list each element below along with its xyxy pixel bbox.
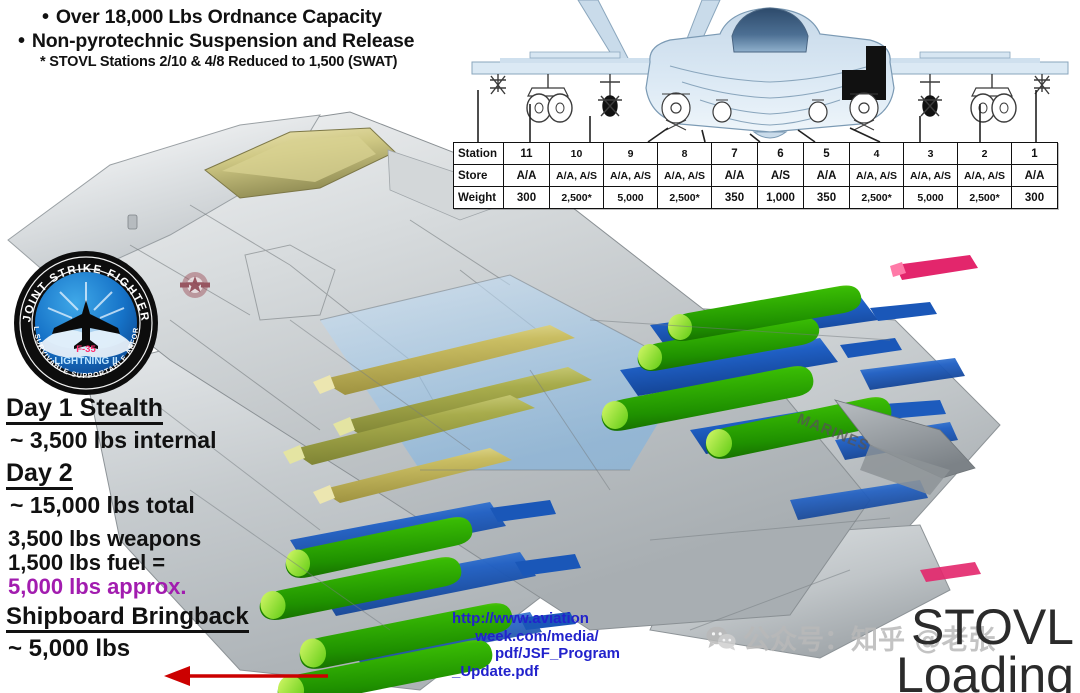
cell-store-5: A/A — [804, 165, 850, 187]
table-row-weight: Weight 300 2,500* 5,000 2,500* 350 1,000… — [454, 187, 1058, 209]
cell-weight-2: 2,500* — [958, 187, 1012, 209]
row-label-station: Station — [454, 143, 504, 165]
cell-station-5: 5 — [804, 143, 850, 165]
bullet-item-2: • Non-pyrotechnic Suspension and Release — [18, 30, 458, 53]
bringback-value: ~ 5,000 lbs — [8, 637, 336, 661]
cell-store-1: A/A — [1012, 165, 1058, 187]
table-row-store: Store A/A A/A, A/S A/A, A/S A/A, A/S A/A… — [454, 165, 1058, 187]
cell-station-8: 8 — [658, 143, 712, 165]
calc-line-weapons: 3,500 lbs weapons — [8, 528, 336, 550]
cell-station-1: 1 — [1012, 143, 1058, 165]
cell-store-8: A/A, A/S — [658, 165, 712, 187]
bullet-marker-icon: • — [18, 31, 25, 51]
cell-store-10: A/A, A/S — [550, 165, 604, 187]
stovl-label-line1: STOVL — [896, 603, 1074, 651]
wechat-icon — [706, 625, 736, 651]
cell-store-2: A/A, A/S — [958, 165, 1012, 187]
source-url-note[interactable]: http://www.aviation week.com/media/ pdf/… — [452, 610, 622, 681]
url-line-2: week.com/media/ — [452, 628, 622, 646]
cell-weight-3: 5,000 — [904, 187, 958, 209]
bringback-title: Shipboard Bringback — [6, 605, 249, 633]
bullet-footnote: * STOVL Stations 2/10 & 4/8 Reduced to 1… — [18, 54, 458, 70]
cell-station-2: 2 — [958, 143, 1012, 165]
cell-weight-5: 350 — [804, 187, 850, 209]
bullet-item-1: • Over 18,000 Lbs Ordnance Capacity — [18, 6, 458, 29]
footnote-text: * STOVL Stations 2/10 & 4/8 Reduced to 1… — [40, 54, 397, 70]
bullet-text-2: Non-pyrotechnic Suspension and Release — [32, 30, 415, 53]
bringback-title-row: Shipboard Bringback — [6, 605, 336, 633]
bullet-marker-icon: • — [42, 7, 49, 27]
url-line-1: http://www.aviation — [452, 610, 622, 628]
cell-weight-9: 5,000 — [604, 187, 658, 209]
cell-store-3: A/A, A/S — [904, 165, 958, 187]
day2-title: Day 2 — [6, 461, 73, 490]
header-bullet-list: • Over 18,000 Lbs Ordnance Capacity • No… — [18, 6, 458, 70]
day1-value: ~ 3,500 lbs internal — [10, 429, 336, 452]
cell-station-11: 11 — [504, 143, 550, 165]
day1-title-row: Day 1 Stealth — [6, 396, 336, 425]
day2-value: ~ 15,000 lbs total — [10, 494, 336, 517]
calc-line-total: 5,000 lbs approx. — [8, 576, 336, 598]
slide-canvas: • Over 18,000 Lbs Ordnance Capacity • No… — [0, 0, 1080, 693]
row-label-weight: Weight — [454, 187, 504, 209]
stovl-label-line2: Loading — [896, 651, 1074, 693]
calc-line-fuel: 1,500 lbs fuel = — [8, 552, 336, 574]
callout-leader-lines — [450, 84, 1080, 146]
cell-weight-6: 1,000 — [758, 187, 804, 209]
cell-station-9: 9 — [604, 143, 658, 165]
bullet-text-1: Over 18,000 Lbs Ordnance Capacity — [56, 6, 382, 29]
cell-store-11: A/A — [504, 165, 550, 187]
cell-station-7: 7 — [712, 143, 758, 165]
cell-weight-10: 2,500* — [550, 187, 604, 209]
cell-store-7: A/A — [712, 165, 758, 187]
weapon-station-table: Station 11 10 9 8 7 6 5 4 3 2 1 Store A/… — [453, 142, 1058, 209]
summary-text-block: Day 1 Stealth ~ 3,500 lbs internal Day 2… — [6, 396, 336, 661]
cell-weight-4: 2,500* — [850, 187, 904, 209]
url-line-4: _Update.pdf — [452, 663, 622, 681]
cell-store-9: A/A, A/S — [604, 165, 658, 187]
url-line-3: pdf/JSF_Program — [452, 645, 622, 663]
cell-weight-8: 2,500* — [658, 187, 712, 209]
row-label-store: Store — [454, 165, 504, 187]
cell-store-4: A/A, A/S — [850, 165, 904, 187]
logo-center-name: F-35 — [76, 344, 96, 355]
red-left-arrow-icon — [160, 661, 340, 691]
joint-strike-fighter-logo: F-35 LIGHTNING II JOINT STRIKE FIGHTER L… — [8, 248, 164, 398]
cell-station-4: 4 — [850, 143, 904, 165]
day2-title-row: Day 2 — [6, 461, 336, 490]
cell-weight-7: 350 — [712, 187, 758, 209]
cell-store-6: A/S — [758, 165, 804, 187]
day1-title: Day 1 Stealth — [6, 396, 163, 425]
cell-station-6: 6 — [758, 143, 804, 165]
cell-station-3: 3 — [904, 143, 958, 165]
cell-weight-1: 300 — [1012, 187, 1058, 209]
cell-station-10: 10 — [550, 143, 604, 165]
table-row-station: Station 11 10 9 8 7 6 5 4 3 2 1 — [454, 143, 1058, 165]
stovl-loading-label: STOVL Loading — [896, 603, 1074, 693]
cell-weight-11: 300 — [504, 187, 550, 209]
